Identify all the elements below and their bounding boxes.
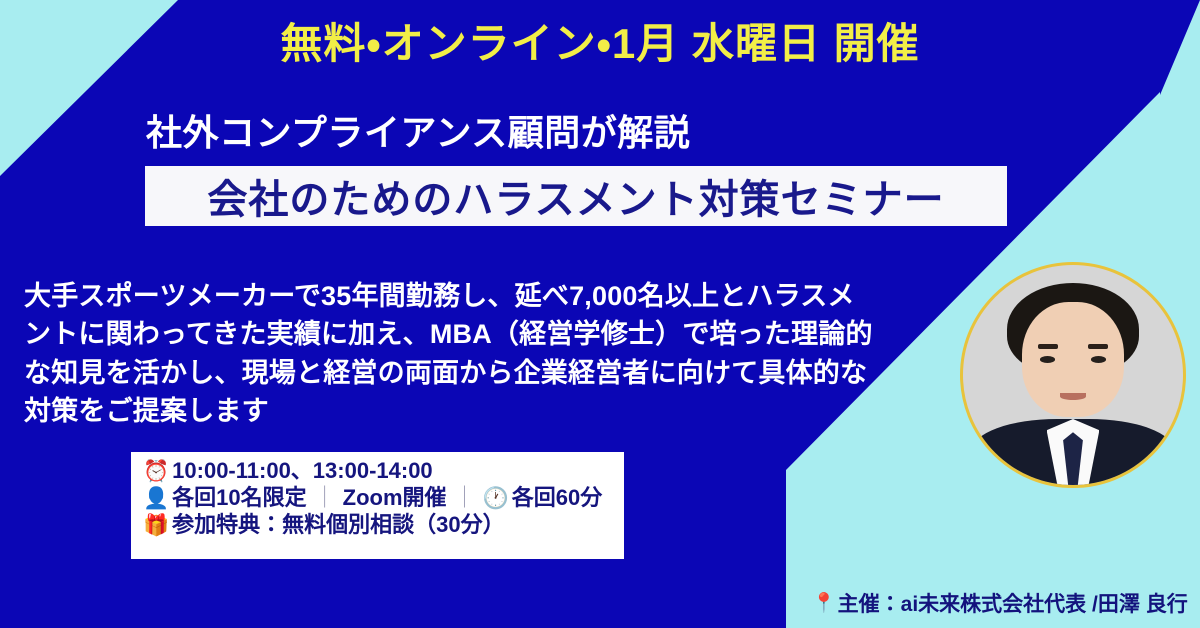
sub-headline: 社外コンプライアンス顧問が解説 [146, 104, 690, 156]
body-line-4: 対策をご提案します [24, 392, 904, 430]
gift-icon: 🎁 [143, 515, 169, 536]
detail-duration-text: 各回60分 [512, 485, 602, 512]
event-details-box: ⏰ 10:00-11:00、13:00-14:00 👤 各回10名限定 ｜ Zo… [131, 452, 624, 559]
detail-separator-1: ｜ [314, 485, 336, 512]
person-icon: 👤 [143, 488, 169, 509]
detail-separator-2: ｜ [454, 485, 476, 512]
body-description: 大手スポーツメーカーで35年間勤務し、延べ7,000名以上とハラスメ ントに関わ… [24, 277, 904, 430]
host-credit: 📍 主催：ai未来株式会社代表 /田澤 良行 [812, 588, 1188, 618]
detail-capacity-text: 各回10名限定 [172, 485, 306, 512]
page-title: 会社のためのハラスメント対策セミナー [207, 167, 944, 225]
detail-row-time: ⏰ 10:00-11:00、13:00-14:00 [143, 458, 614, 485]
body-line-3: な知見を活かし、現場と経営の両面から企業経営者に向けて具体的な [24, 354, 904, 392]
body-line-1: 大手スポーツメーカーで35年間勤務し、延べ7,000名以上とハラスメ [24, 277, 904, 315]
detail-platform-text: Zoom開催 [343, 485, 447, 512]
detail-time-text: 10:00-11:00、13:00-14:00 [172, 458, 433, 485]
main-title-box: 会社のためのハラスメント対策セミナー [145, 166, 1007, 226]
portrait-illustration [963, 265, 1183, 485]
detail-row-capacity: 👤 各回10名限定 ｜ Zoom開催 ｜ 🕐 各回60分 [143, 485, 614, 512]
kicker-headline: 無料・オンライン・1月 水曜日 開催 [0, 21, 1200, 67]
location-pin-icon: 📍 [812, 591, 836, 615]
seminar-banner: 無料・オンライン・1月 水曜日 開催 社外コンプライアンス顧問が解説 会社のため… [0, 0, 1200, 628]
portrait-eye-left [1040, 356, 1055, 363]
portrait-eyebrow-right [1088, 344, 1108, 349]
host-credit-text: 主催：ai未来株式会社代表 /田澤 良行 [838, 588, 1188, 618]
portrait-eye-right [1091, 356, 1106, 363]
body-line-2: ントに関わってきた実績に加え、MBA（経営学修士）で培った理論的 [24, 315, 904, 353]
detail-row-bonus: 🎁 参加特典：無料個別相談（30分） [143, 512, 614, 539]
detail-bonus-text: 参加特典：無料個別相談（30分） [172, 512, 504, 539]
speaker-portrait [960, 262, 1186, 488]
portrait-mouth [1060, 393, 1086, 400]
portrait-eyebrow-left [1038, 344, 1058, 349]
clock-face-icon: 🕐 [483, 488, 509, 509]
alarm-clock-icon: ⏰ [143, 461, 169, 482]
